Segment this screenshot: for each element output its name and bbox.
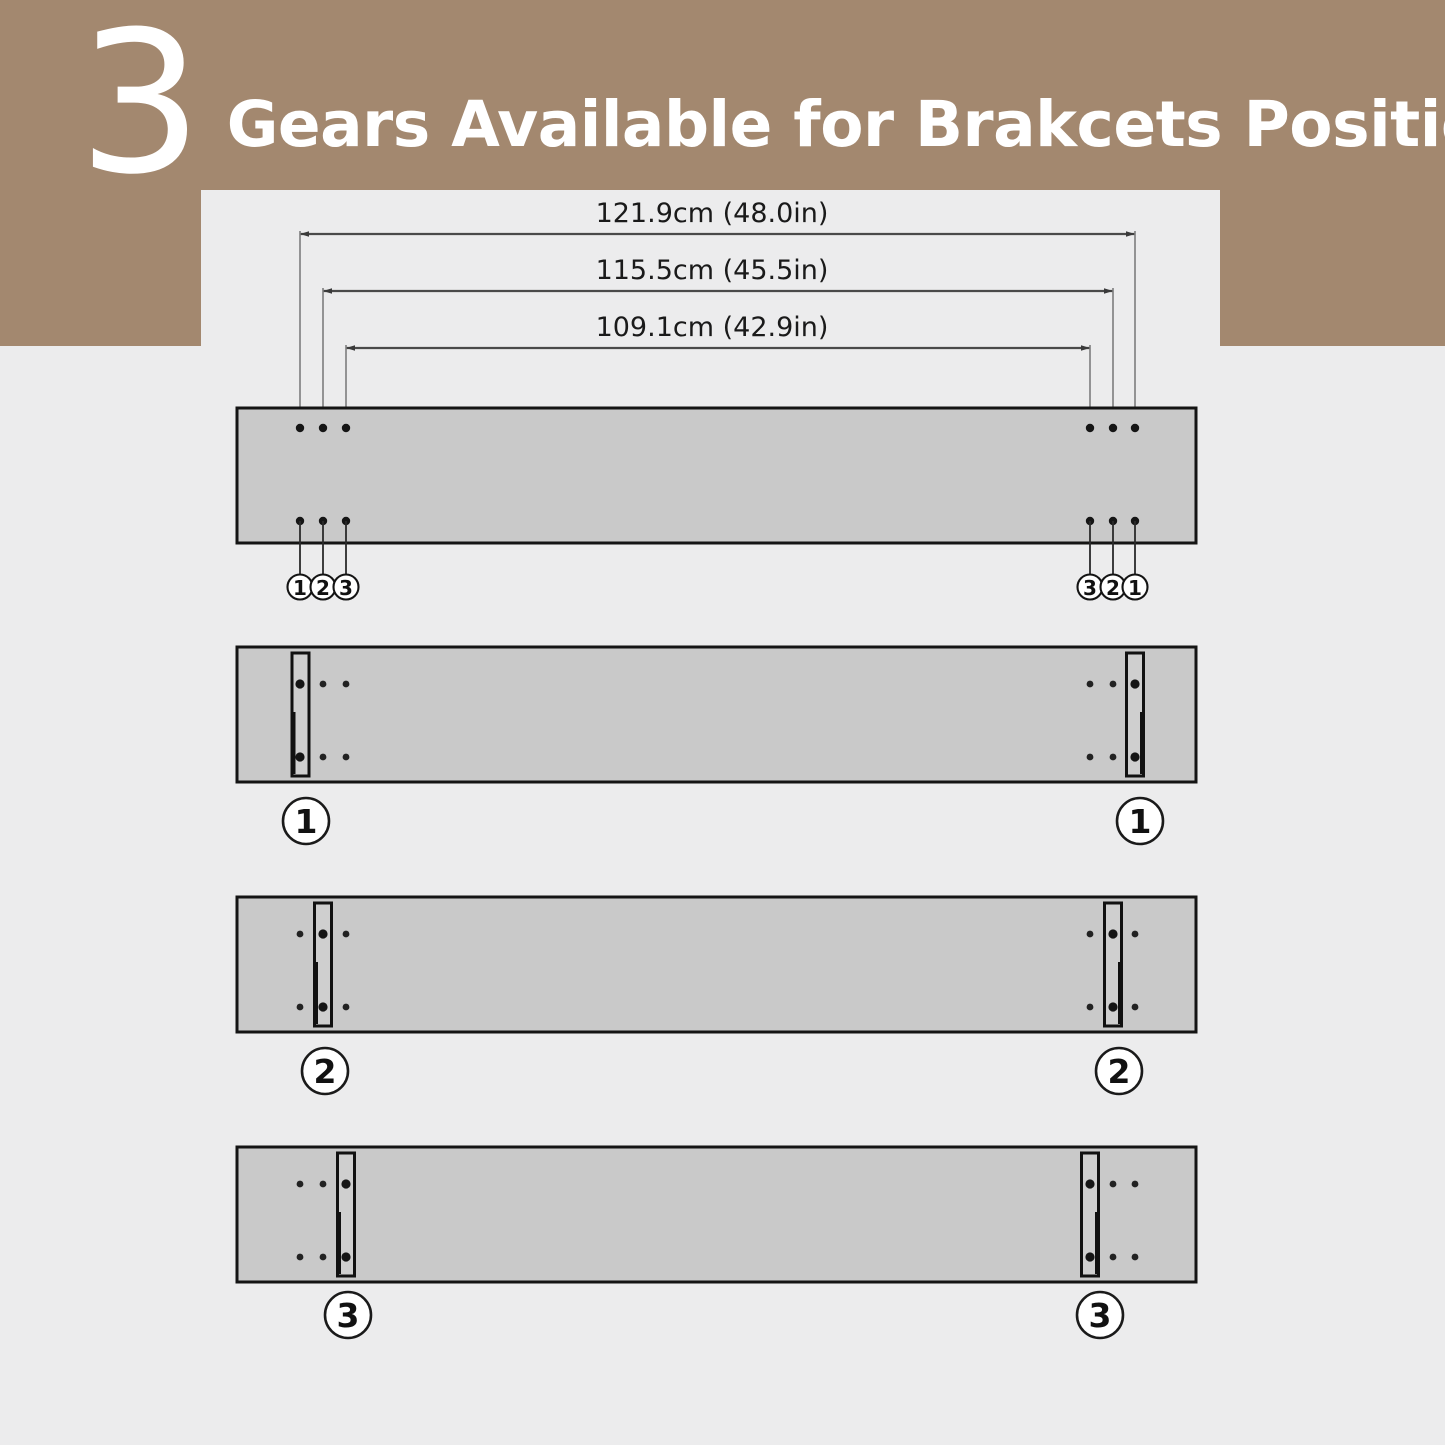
badge-left-gear-2: 2 xyxy=(302,1048,348,1094)
callout-right-2-label: 2 xyxy=(1106,576,1120,600)
bracket-hole-top xyxy=(1108,929,1117,938)
bracket-hole-bottom xyxy=(1130,752,1139,761)
callout-left-3-label: 3 xyxy=(339,576,353,600)
badge-left-gear-3-label: 3 xyxy=(337,1296,360,1335)
dimension-group: 121.9cm (48.0in) 115.5cm (45.5in) 109.1c… xyxy=(300,198,1135,428)
badge-left-gear-1: 1 xyxy=(283,798,329,844)
badge-left-gear-3: 3 xyxy=(325,1292,371,1338)
callout-left-1-label: 1 xyxy=(293,576,307,600)
bracket-right-gear-3 xyxy=(1082,1153,1099,1276)
bracket-hole-bottom xyxy=(318,1002,327,1011)
dimension-label-1: 121.9cm (48.0in) xyxy=(596,198,829,229)
hole-top-right-2 xyxy=(1109,424,1117,432)
bracket-hole-bottom xyxy=(1108,1002,1117,1011)
callout-left-3: 3 xyxy=(334,575,359,601)
bracket-position-diagram: 121.9cm (48.0in) 115.5cm (45.5in) 109.1c… xyxy=(0,0,1445,1445)
hole-top-left-1 xyxy=(296,424,304,432)
bracket-hole-top xyxy=(1085,1179,1094,1188)
bracket-left-gear-2 xyxy=(315,903,332,1026)
panel-gear-2: 2 2 xyxy=(237,897,1196,1094)
bracket-hole-top xyxy=(318,929,327,938)
hole-top-right-3 xyxy=(1086,424,1094,432)
bracket-right-gear-1 xyxy=(1127,653,1144,776)
callout-right-1-label: 3 xyxy=(1083,576,1097,600)
dimension-label-2: 115.5cm (45.5in) xyxy=(596,255,829,286)
bracket-hole-bottom xyxy=(341,1252,350,1261)
overview-board-panel: 1 2 3 3 2 1 xyxy=(237,408,1196,600)
callout-left-2-label: 2 xyxy=(316,576,330,600)
hole-top-right-1 xyxy=(1131,424,1139,432)
bracket-left-gear-1 xyxy=(292,653,309,776)
badge-left-gear-2-label: 2 xyxy=(314,1052,337,1091)
hole-top-left-3 xyxy=(342,424,350,432)
badge-left-gear-1-label: 1 xyxy=(295,802,318,841)
panel-gear-1: 1 1 xyxy=(237,647,1196,844)
bracket-hole-top xyxy=(295,679,304,688)
bracket-hole-top xyxy=(341,1179,350,1188)
callout-right-3: 3 xyxy=(1078,575,1103,601)
bracket-hole-top xyxy=(1130,679,1139,688)
callout-right-3-label: 1 xyxy=(1128,576,1142,600)
badge-right-gear-3: 3 xyxy=(1077,1292,1123,1338)
hole-top-left-2 xyxy=(319,424,327,432)
callout-right-1: 1 xyxy=(1123,575,1148,601)
badge-right-gear-2-label: 2 xyxy=(1108,1052,1131,1091)
badge-right-gear-3-label: 3 xyxy=(1089,1296,1112,1335)
bracket-right-gear-2 xyxy=(1105,903,1122,1026)
badge-right-gear-2: 2 xyxy=(1096,1048,1142,1094)
callout-left-1: 1 xyxy=(288,575,313,601)
badge-right-gear-1-label: 1 xyxy=(1129,802,1152,841)
callout-left-2: 2 xyxy=(311,575,336,601)
bracket-hole-bottom xyxy=(1085,1252,1094,1261)
bracket-hole-bottom xyxy=(295,752,304,761)
badge-right-gear-1: 1 xyxy=(1117,798,1163,844)
panel-gear-3: 3 3 xyxy=(237,1147,1196,1338)
dimension-label-3: 109.1cm (42.9in) xyxy=(596,312,829,343)
bracket-left-gear-3 xyxy=(338,1153,355,1276)
